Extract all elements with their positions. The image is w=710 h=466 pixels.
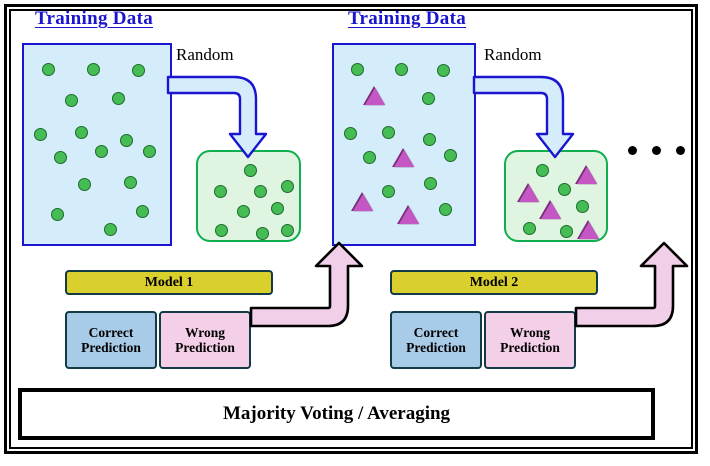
data-point-circle — [281, 180, 294, 193]
correct-prediction-label-1: Correct Prediction — [81, 325, 141, 355]
majority-voting-inner-border: Majority Voting / Averaging — [21, 391, 652, 437]
data-point-triangle — [365, 88, 385, 105]
data-point-circle — [132, 64, 145, 77]
data-point-circle — [422, 92, 435, 105]
data-point-triangle — [541, 202, 561, 219]
data-point-triangle — [579, 222, 599, 239]
data-point-circle — [558, 183, 571, 196]
majority-voting-box: Majority Voting / Averaging — [18, 388, 655, 440]
wrong-line-2: Prediction — [500, 340, 560, 355]
data-point-circle — [254, 185, 267, 198]
data-point-triangle — [394, 150, 414, 167]
ellipsis-continuation — [628, 146, 694, 162]
data-point-circle — [75, 126, 88, 139]
data-point-circle — [95, 145, 108, 158]
data-point-circle — [51, 208, 64, 221]
data-point-circle — [124, 176, 137, 189]
data-point-triangle — [519, 185, 539, 202]
ellipsis-dot — [628, 146, 637, 155]
data-point-triangle — [399, 207, 419, 224]
wrong-line-1: Wrong — [510, 325, 550, 340]
data-point-circle — [523, 222, 536, 235]
data-point-circle — [363, 151, 376, 164]
model-box-2[interactable]: Model 2 — [390, 270, 598, 295]
diagram-canvas: Training Data Random Training Data — [0, 0, 710, 466]
data-point-circle — [444, 149, 457, 162]
data-point-circle — [271, 202, 284, 215]
wrong-line-1: Wrong — [185, 325, 225, 340]
data-point-circle — [424, 177, 437, 190]
data-point-circle — [120, 134, 133, 147]
data-point-circle — [423, 133, 436, 146]
training-data-title-2: Training Data — [327, 8, 487, 30]
training-data-box-2 — [332, 43, 476, 246]
correct-line-2: Prediction — [406, 340, 466, 355]
data-point-circle — [382, 185, 395, 198]
correct-line-2: Prediction — [81, 340, 141, 355]
correct-line-1: Correct — [414, 325, 459, 340]
data-point-circle — [351, 63, 364, 76]
data-point-circle — [437, 64, 450, 77]
data-point-circle — [237, 205, 250, 218]
wrong-line-2: Prediction — [175, 340, 235, 355]
data-point-circle — [382, 126, 395, 139]
majority-voting-label: Majority Voting / Averaging — [223, 403, 450, 425]
data-point-circle — [78, 178, 91, 191]
model-box-1[interactable]: Model 1 — [65, 270, 273, 295]
correct-line-1: Correct — [89, 325, 134, 340]
wrong-prediction-label-1: Wrong Prediction — [175, 325, 235, 355]
data-point-circle — [104, 223, 117, 236]
bootstrap-sample-box-1 — [196, 150, 301, 242]
correct-prediction-box-2[interactable]: Correct Prediction — [390, 311, 482, 369]
data-point-circle — [215, 224, 228, 237]
data-point-circle — [214, 185, 227, 198]
data-point-circle — [344, 127, 357, 140]
data-point-circle — [112, 92, 125, 105]
data-point-circle — [560, 225, 573, 238]
wrong-prediction-box-1[interactable]: Wrong Prediction — [159, 311, 251, 369]
data-point-circle — [576, 200, 589, 213]
data-point-triangle — [353, 194, 373, 211]
bootstrap-sample-box-2 — [504, 150, 608, 242]
data-point-circle — [439, 203, 452, 216]
ellipsis-dot — [652, 146, 661, 155]
data-point-circle — [34, 128, 47, 141]
data-point-circle — [281, 224, 294, 237]
data-point-circle — [136, 205, 149, 218]
wrong-prediction-label-2: Wrong Prediction — [500, 325, 560, 355]
data-point-circle — [143, 145, 156, 158]
data-point-circle — [256, 227, 269, 240]
training-data-box-1 — [22, 43, 172, 246]
data-point-circle — [42, 63, 55, 76]
data-point-circle — [65, 94, 78, 107]
wrong-prediction-box-2[interactable]: Wrong Prediction — [484, 311, 576, 369]
data-point-circle — [395, 63, 408, 76]
correct-prediction-label-2: Correct Prediction — [406, 325, 466, 355]
training-data-title-1: Training Data — [14, 8, 174, 30]
data-point-circle — [244, 164, 257, 177]
data-point-circle — [54, 151, 67, 164]
correct-prediction-box-1[interactable]: Correct Prediction — [65, 311, 157, 369]
random-sampling-label-2: Random — [484, 45, 542, 65]
data-point-circle — [536, 164, 549, 177]
data-point-triangle — [577, 167, 597, 184]
random-sampling-label-1: Random — [176, 45, 234, 65]
data-point-circle — [87, 63, 100, 76]
ellipsis-dot — [676, 146, 685, 155]
